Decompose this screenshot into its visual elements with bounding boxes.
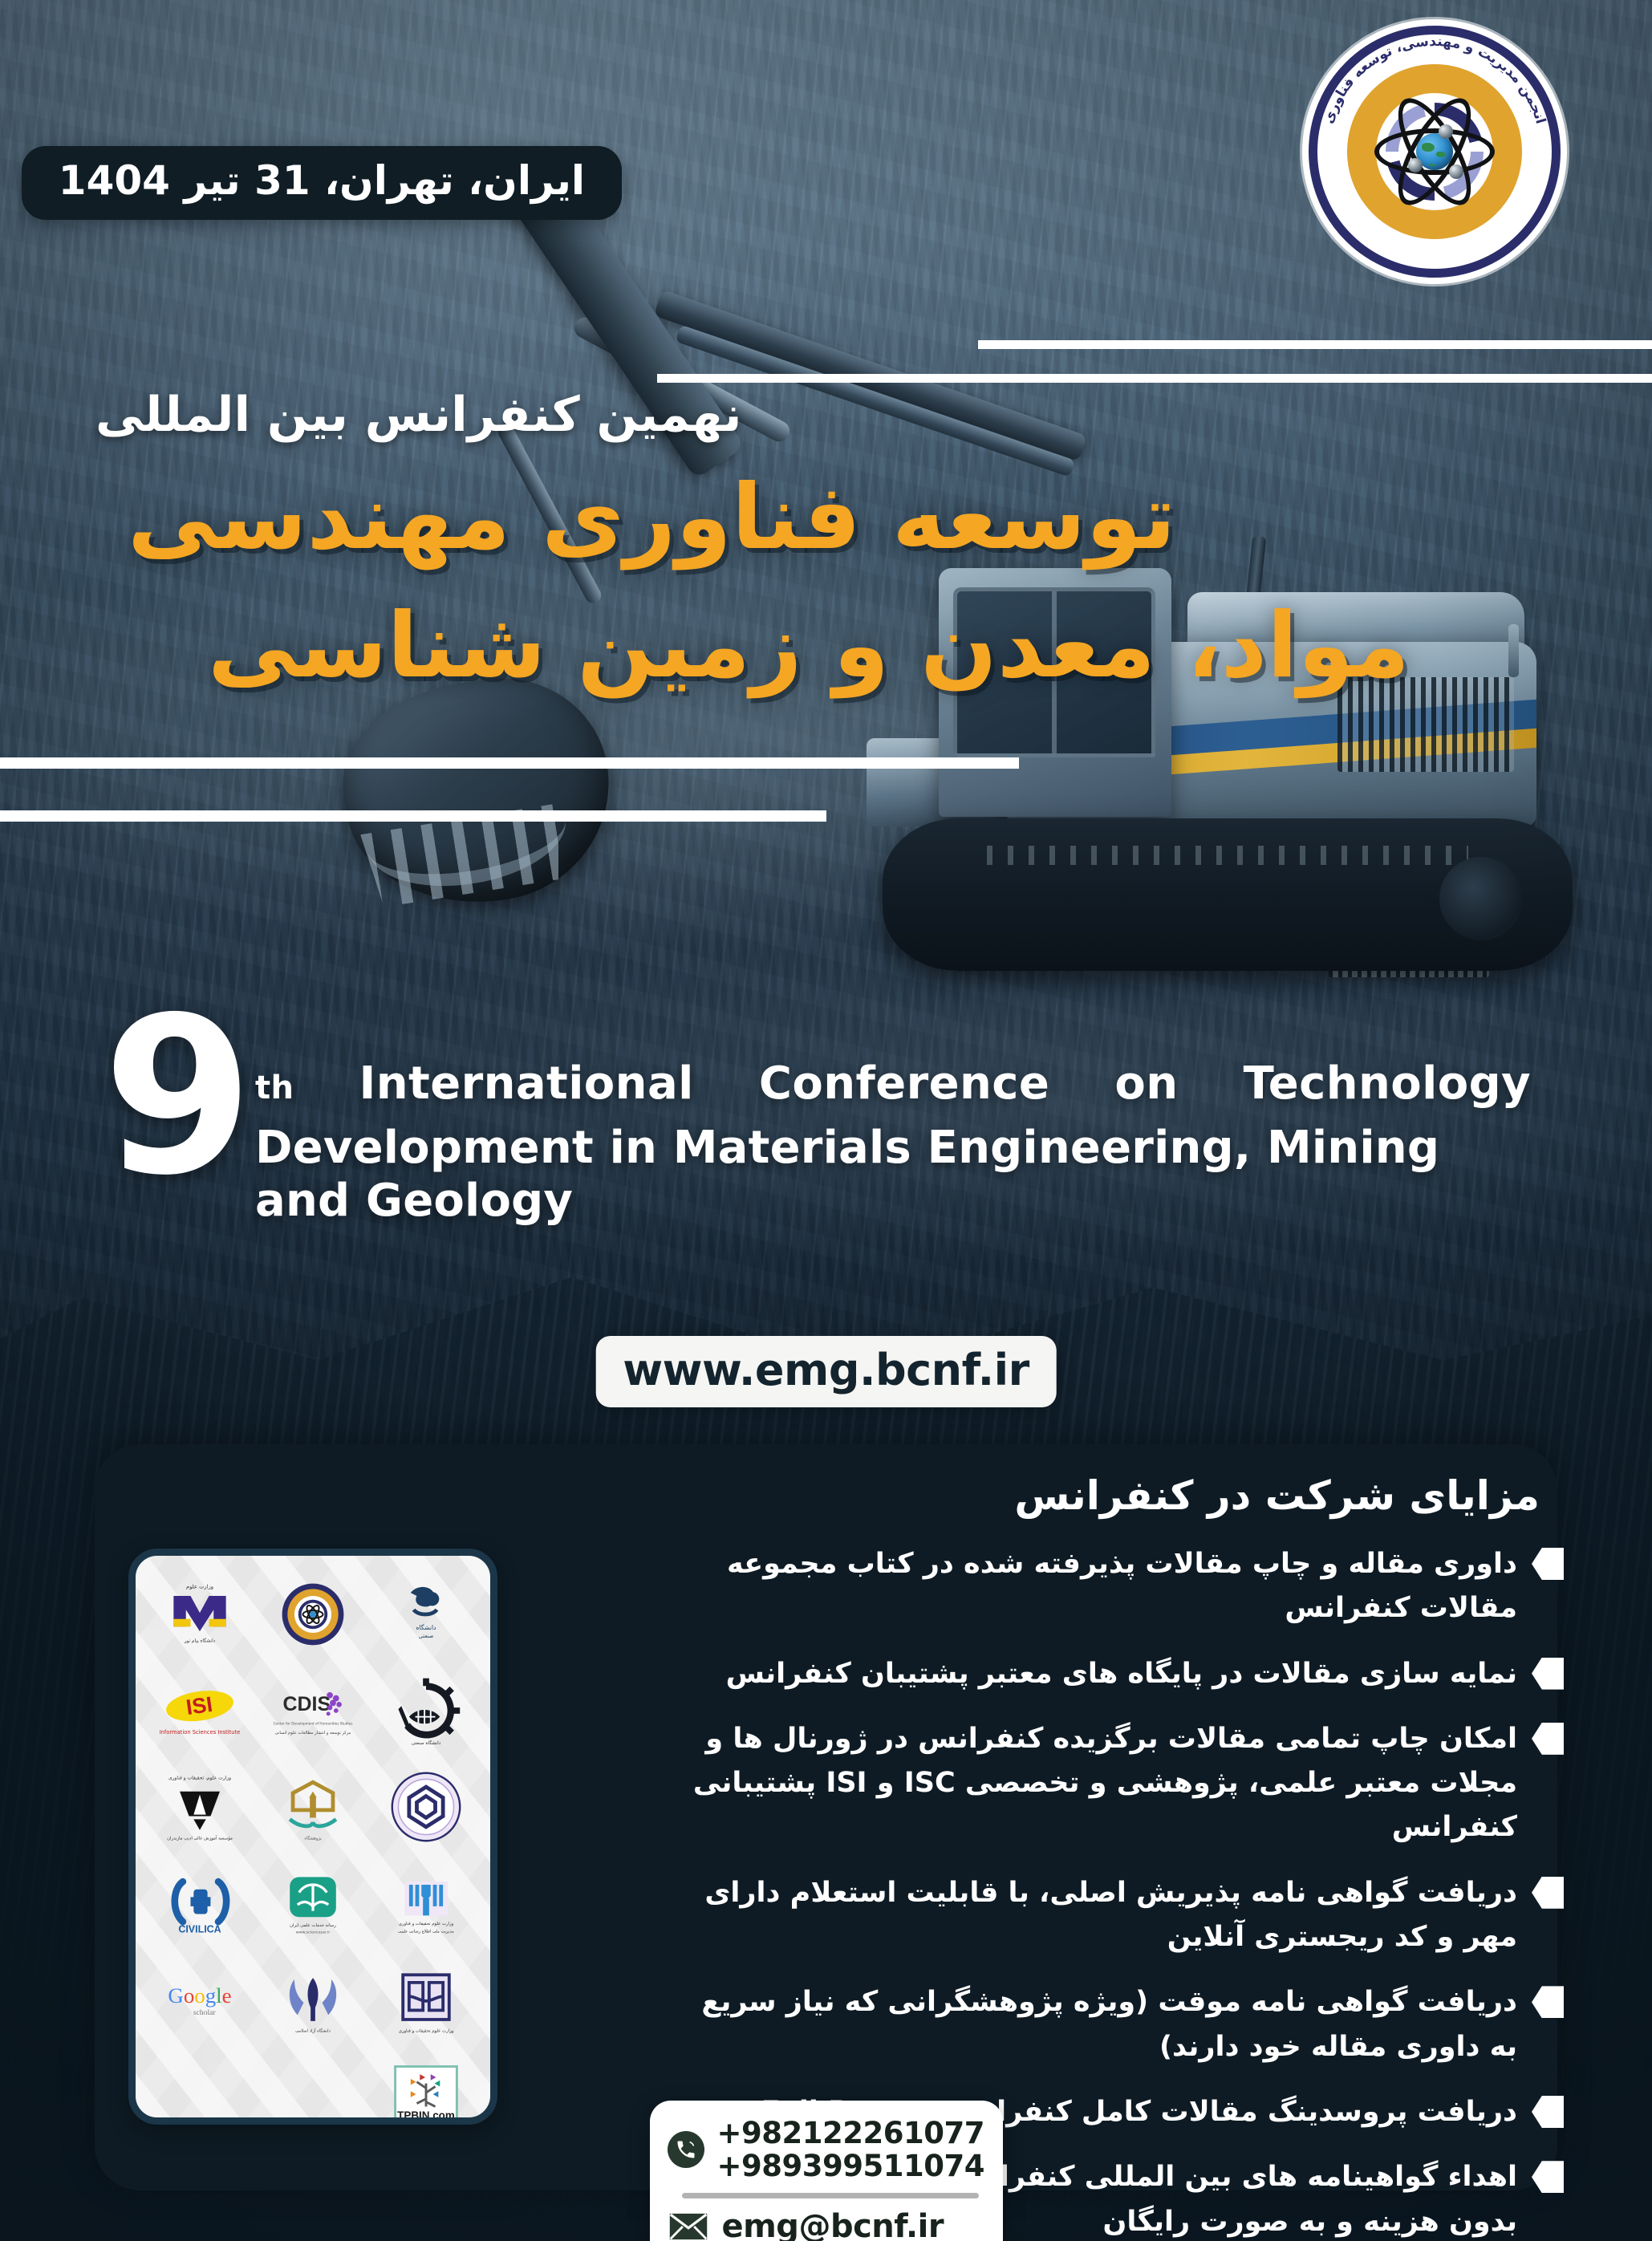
isi-logo: ISIInformation Sciences Institute <box>152 1672 247 1749</box>
bullet-arrow-icon <box>1532 1658 1564 1690</box>
email-address: emg@bcnf.ir <box>722 2208 944 2241</box>
azad-university-logo: دانشگاه آزاد اسلامی <box>266 1961 360 2038</box>
svg-text:CDIS: CDIS <box>283 1693 331 1715</box>
email-row: emg@bcnf.ir <box>668 2208 985 2241</box>
benefits-heading: مزایای شرکت در کنفرانس <box>1014 1472 1540 1519</box>
svg-text:وزارت علوم تحقیقات و فناوری: وزارت علوم تحقیقات و فناوری <box>399 2028 454 2033</box>
decorative-line-top-short <box>978 340 1652 349</box>
english-title-line-2: Development in Materials Engineering, Mi… <box>255 1122 1531 1228</box>
ministry-logo-1: وزارت علوم، تحقیقات و فناوریمؤسسه آموزش … <box>152 1768 247 1845</box>
svg-text:پژوهشگاه: پژوهشگاه <box>304 1835 322 1841</box>
phone-number-1: +982122261077 <box>717 2116 984 2150</box>
bullet-arrow-icon <box>1532 2161 1564 2193</box>
svg-text:مؤسسه آموزش عالی ادیب مازندران: مؤسسه آموزش عالی ادیب مازندران <box>167 1835 233 1841</box>
bullet-arrow-icon <box>1532 2096 1564 2128</box>
atom-globe-icon <box>1402 119 1467 185</box>
benefit-text: داوری مقاله و چاپ مقالات پذیرفته شده در … <box>665 1542 1517 1631</box>
event-date-badge: ایران، تهران، 31 تیر 1404 <box>22 146 622 220</box>
envelope-icon <box>668 2211 709 2241</box>
bullet-arrow-icon <box>1532 1986 1564 2018</box>
english-title-block: 9 th International Conference on Technol… <box>0 1003 1652 1276</box>
book-emblem-logo: وزارت علوم تحقیقات و فناوری <box>379 1961 473 2038</box>
english-title-line-1: th International Conference on Technolog… <box>255 1058 1531 1110</box>
gear-pen-university-logo: دانشگاه صنعتی <box>379 1672 473 1749</box>
tpbin-logo: TPBIN.comSponsored And Indexed <box>379 2057 473 2125</box>
svg-text:Information Sciences Institute: Information Sciences Institute <box>159 1729 240 1736</box>
benefit-text: دریافت گواهی نامه پذیریش اصلی، با قابلیت… <box>665 1871 1517 1960</box>
persian-title-line-2: مواد، معدن و زمین شناسی <box>208 594 1652 698</box>
list-item: داوری مقاله و چاپ مقالات پذیرفته شده در … <box>665 1542 1564 1631</box>
sid-logo: رسانه خدمات علمی ایرانwww.sciencesar.ir <box>266 1865 360 1942</box>
svg-text:دانشگاه: دانشگاه <box>416 1624 436 1631</box>
sponsor-logo-grid: دانشگاهصنعتی وزارت علومدانشگاه پیام نور … <box>136 1556 490 2125</box>
svg-text:ISI: ISI <box>185 1692 214 1719</box>
svg-text:دانشگاه صنعتی: دانشگاه صنعتی <box>412 1740 441 1746</box>
list-item: دریافت گواهی نامه موقت (ویژه پژوهشگرانی … <box>665 1980 1564 2069</box>
phone-numbers: +982122261077 +989399511074 <box>717 2117 984 2183</box>
association-logo <box>266 1576 360 1653</box>
english-title-line-1-text: International Conference on Technology <box>359 1058 1531 1110</box>
svg-text:www.sciencesar.ir: www.sciencesar.ir <box>296 1930 331 1934</box>
civilica-logo: CIVILICA <box>152 1865 247 1942</box>
phone-number-2: +989399511074 <box>717 2149 984 2183</box>
ministry-science-logo: وزارت علوم تحقیقات و فناوریمدیریت ملی اط… <box>379 1865 473 1942</box>
decorative-line-bottom-long <box>0 757 1019 769</box>
svg-text:scholar: scholar <box>193 2008 216 2017</box>
persian-title-line-1: توسعه فناوری مهندسی <box>128 465 1652 570</box>
list-item: نمایه سازی مقالات در پایگاه های معتبر پش… <box>665 1652 1564 1696</box>
decorative-line-bottom-short <box>0 810 826 822</box>
google-scholar-logo: Googlescholar <box>152 1961 247 2038</box>
list-item: امکان چاپ تمامی مقالات برگزیده کنفرانس د… <box>665 1717 1564 1850</box>
ordinal-number: 9 <box>103 1008 254 1185</box>
svg-text:وزارت علوم: وزارت علوم <box>186 1583 213 1589</box>
contact-card: +982122261077 +989399511074 emg@bcnf.ir <box>650 2101 1003 2241</box>
svg-text:دانشگاه آزاد اسلامی: دانشگاه آزاد اسلامی <box>295 2028 331 2033</box>
svg-text:TPBIN.com: TPBIN.com <box>398 2109 456 2121</box>
cdis-logo: CDISCenter for Development of Humanities… <box>266 1672 360 1749</box>
persian-pretitle: نهمین کنفرانس بین المللی <box>95 387 1652 443</box>
seal-logo <box>379 1768 473 1845</box>
english-title-lines: th International Conference on Technolog… <box>255 1058 1531 1228</box>
svg-text:Google: Google <box>168 1983 231 2008</box>
svg-text:مرکز توسعه و انتشار مطالعات عل: مرکز توسعه و انتشار مطالعات علوم انسانی <box>275 1731 351 1736</box>
university-logo-1: دانشگاهصنعتی <box>379 1576 473 1653</box>
electron-1 <box>1439 124 1453 139</box>
svg-text:وزارت علوم، تحقیقات و فناوری: وزارت علوم، تحقیقات و فناوری <box>168 1775 231 1780</box>
bullet-arrow-icon <box>1532 1877 1564 1909</box>
bullet-arrow-icon <box>1532 1723 1564 1755</box>
svg-text:صنعتی: صنعتی <box>419 1633 434 1639</box>
svg-text:Sponsored And Indexed: Sponsored And Indexed <box>404 2121 449 2125</box>
sponsor-logos-card: دانشگاهصنعتی وزارت علومدانشگاه پیام نور … <box>128 1549 497 2125</box>
phone-row: +982122261077 +989399511074 <box>668 2117 985 2183</box>
bullet-arrow-icon <box>1532 1548 1564 1580</box>
benefit-text: امکان چاپ تمامی مقالات برگزیده کنفرانس د… <box>665 1717 1517 1850</box>
list-item: دریافت گواهی نامه پذیریش اصلی، با قابلیت… <box>665 1871 1564 1960</box>
svg-text:Center for Development of Huma: Center for Development of Humanities Stu… <box>274 1721 353 1725</box>
svg-text:دانشگاه پیام نور: دانشگاه پیام نور <box>183 1638 215 1644</box>
svg-text:مدیریت ملی اطلاع رسانی علمی: مدیریت ملی اطلاع رسانی علمی <box>399 1929 455 1934</box>
decorative-line-top-long <box>657 374 1652 383</box>
phone-icon <box>668 2131 704 2168</box>
benefit-text: نمایه سازی مقالات در پایگاه های معتبر پش… <box>665 1652 1517 1696</box>
contact-divider <box>682 2193 979 2198</box>
benefit-text: دریافت گواهی نامه موقت (ویژه پژوهشگرانی … <box>665 1980 1517 2069</box>
svg-text:وزارت علوم تحقیقات و فناوری: وزارت علوم تحقیقات و فناوری <box>399 1922 454 1926</box>
association-logo: انجمن مدیریت و مهندسی، توسعه فناوری Asso… <box>1302 19 1567 284</box>
website-url-badge[interactable]: www.emg.bcnf.ir <box>595 1336 1057 1407</box>
university-logo-2: وزارت علومدانشگاه پیام نور <box>152 1576 247 1653</box>
conference-poster: ایران، تهران، 31 تیر 1404 انجمن مدیریت و… <box>0 0 1652 2241</box>
svg-text:CIVILICA: CIVILICA <box>178 1923 221 1934</box>
svg-text:رسانه خدمات علمی ایران: رسانه خدمات علمی ایران <box>290 1923 336 1928</box>
persian-pretitle-text: نهمین کنفرانس بین المللی <box>95 387 741 443</box>
ordinal-suffix: th <box>255 1070 294 1106</box>
pen-book-logo: پژوهشگاه <box>266 1768 360 1845</box>
